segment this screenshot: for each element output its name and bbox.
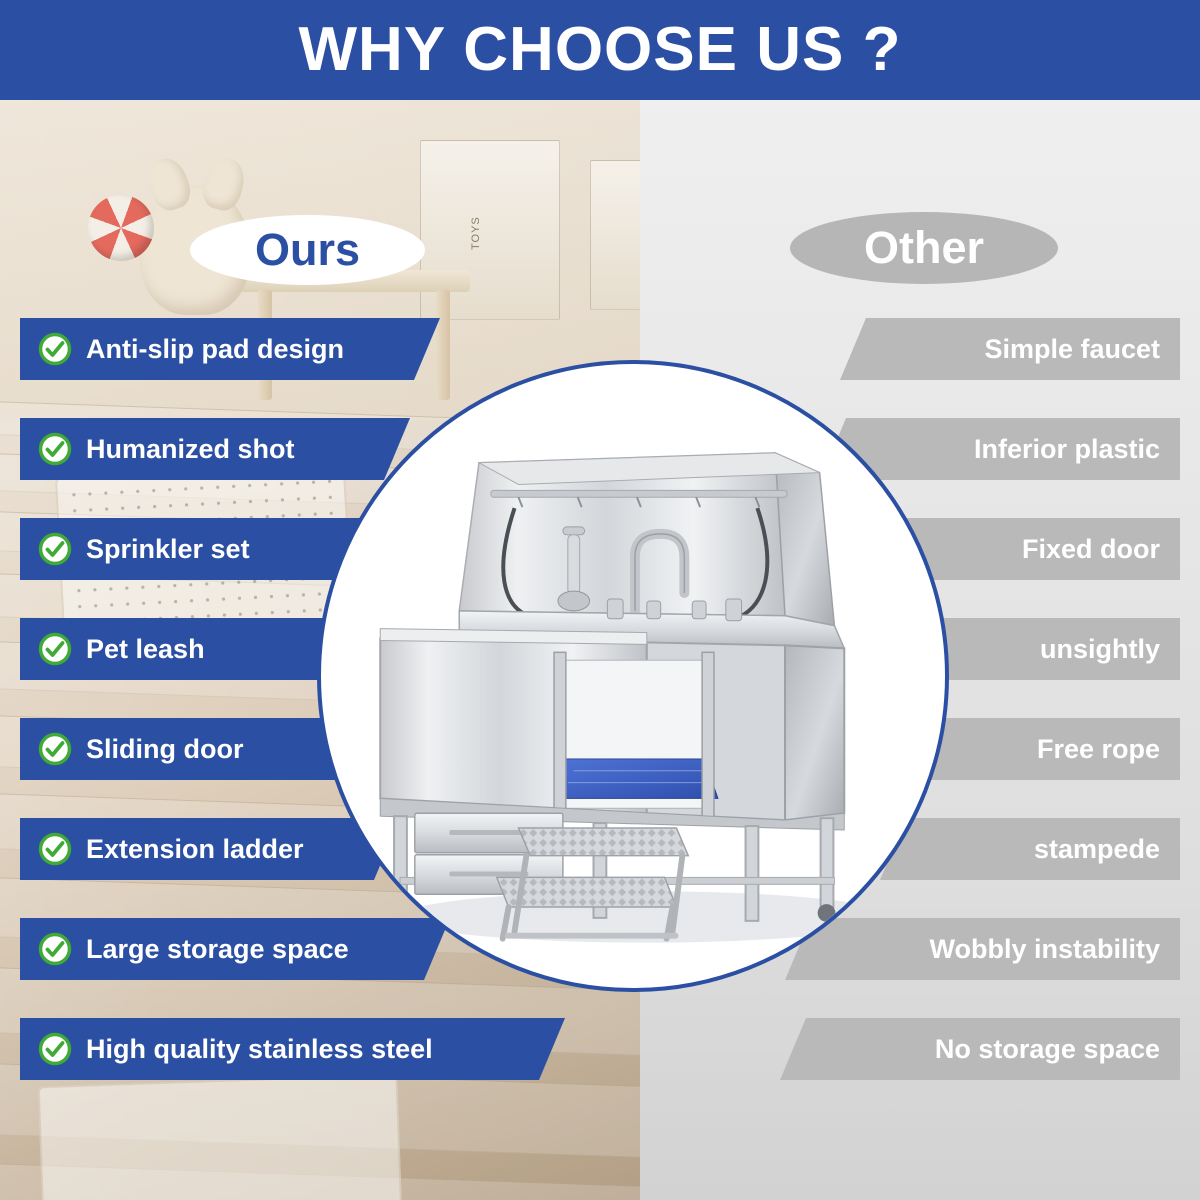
check-circle-icon — [38, 332, 72, 366]
other-feature-label: No storage space — [935, 1034, 1180, 1065]
header-banner: WHY CHOOSE US ? — [0, 0, 1200, 100]
ours-feature-label: Sliding door — [86, 734, 243, 765]
ours-feature-label: Anti-slip pad design — [86, 334, 344, 365]
ours-feature-row: High quality stainless steel — [20, 1018, 660, 1080]
ours-feature-label: Large storage space — [86, 934, 349, 965]
check-circle-icon — [38, 1032, 72, 1066]
other-feature-row: No storage space — [620, 1018, 1180, 1080]
check-circle-icon — [38, 832, 72, 866]
other-feature-label: stampede — [1034, 834, 1180, 865]
other-feature-label: unsightly — [1040, 634, 1180, 665]
other-label-text: Other — [864, 222, 984, 274]
other-label-pill: Other — [790, 212, 1058, 284]
ours-feature-content: Extension ladder — [20, 832, 304, 866]
check-circle-icon — [38, 532, 72, 566]
ours-feature-label: Humanized shot — [86, 434, 295, 465]
other-feature-label: Wobbly instability — [929, 934, 1180, 965]
check-circle-icon — [38, 732, 72, 766]
ours-feature-content: Sliding door — [20, 732, 243, 766]
check-circle-icon — [38, 932, 72, 966]
ours-feature-label: Extension ladder — [86, 834, 304, 865]
other-feature-label: Free rope — [1037, 734, 1180, 765]
toy-box-label: TOYS — [470, 216, 482, 250]
other-feature-label: Fixed door — [1022, 534, 1180, 565]
check-circle-icon — [38, 432, 72, 466]
ours-feature-content: Humanized shot — [20, 432, 295, 466]
toy-ball — [88, 195, 154, 261]
ours-feature-content: Pet leash — [20, 632, 205, 666]
ours-feature-label: Sprinkler set — [86, 534, 250, 565]
ours-feature-content: Sprinkler set — [20, 532, 250, 566]
ours-feature-label: High quality stainless steel — [86, 1034, 433, 1065]
other-feature-label: Inferior plastic — [974, 434, 1180, 465]
ours-label-pill: Ours — [190, 215, 425, 285]
ours-label-text: Ours — [255, 224, 360, 276]
check-circle-icon — [38, 632, 72, 666]
infographic-page: TOYS WHY CHOOSE US ? Ours Other An — [0, 0, 1200, 1200]
product-image-circle — [317, 360, 949, 992]
other-feature-label: Simple faucet — [984, 334, 1180, 365]
page-title: WHY CHOOSE US ? — [299, 19, 902, 81]
product-illustration — [321, 364, 945, 988]
ours-feature-content: Anti-slip pad design — [20, 332, 344, 366]
ours-feature-content: Large storage space — [20, 932, 349, 966]
ours-feature-content: High quality stainless steel — [20, 1032, 433, 1066]
ours-feature-label: Pet leash — [86, 634, 205, 665]
